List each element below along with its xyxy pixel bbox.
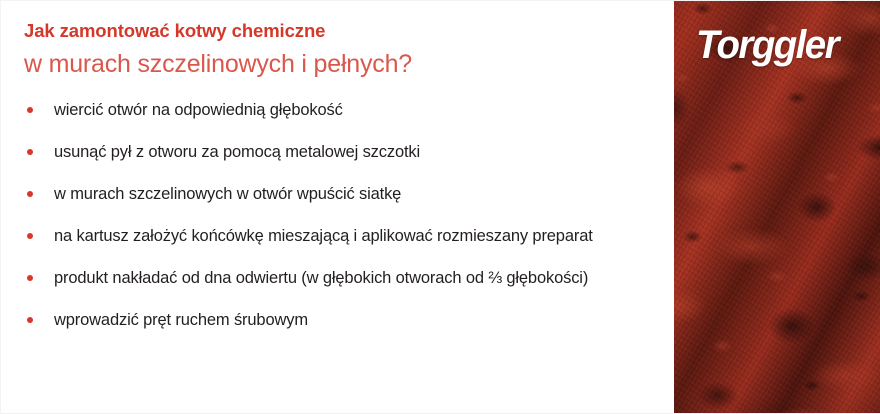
bullet-dot-icon <box>27 107 33 113</box>
bullet-dot-icon <box>27 317 33 323</box>
brand-panel: Torggler <box>674 0 880 414</box>
heading-block: Jak zamontować kotwy chemiczne w murach … <box>24 20 654 80</box>
bullet-dot-icon <box>27 191 33 197</box>
list-item: w murach szczelinowych w otwór wpuścić s… <box>24 182 650 206</box>
slide-canvas: Jak zamontować kotwy chemiczne w murach … <box>0 0 880 414</box>
instruction-list: wiercić otwór na odpowiednią głębokość u… <box>24 98 650 332</box>
torggler-logo-wordmark: Torggler <box>696 22 865 68</box>
list-item-label: wprowadzić pręt ruchem śrubowym <box>54 308 650 332</box>
list-item: wiercić otwór na odpowiednią głębokość <box>24 98 650 122</box>
list-item-label: produkt nakładać od dna odwiertu (w głęb… <box>54 266 650 290</box>
list-item-label: wiercić otwór na odpowiednią głębokość <box>54 98 650 122</box>
content-panel: Jak zamontować kotwy chemiczne w murach … <box>0 0 674 414</box>
list-item-label: na kartusz założyć końcówkę mieszającą i… <box>54 224 650 248</box>
list-item-label: usunąć pył z otworu za pomocą metalowej … <box>54 140 650 164</box>
bullet-dot-icon <box>27 233 33 239</box>
bullet-dot-icon <box>27 275 33 281</box>
torggler-logo: Torggler <box>696 22 872 68</box>
page-title-line-1: Jak zamontować kotwy chemiczne <box>24 20 654 42</box>
list-item: produkt nakładać od dna odwiertu (w głęb… <box>24 266 650 290</box>
page-title-line-2: w murach szczelinowych i pełnych? <box>24 48 654 80</box>
bullet-dot-icon <box>27 149 33 155</box>
list-item: na kartusz założyć końcówkę mieszającą i… <box>24 224 650 248</box>
list-item: wprowadzić pręt ruchem śrubowym <box>24 308 650 332</box>
list-item: usunąć pył z otworu za pomocą metalowej … <box>24 140 650 164</box>
list-item-label: w murach szczelinowych w otwór wpuścić s… <box>54 182 650 206</box>
